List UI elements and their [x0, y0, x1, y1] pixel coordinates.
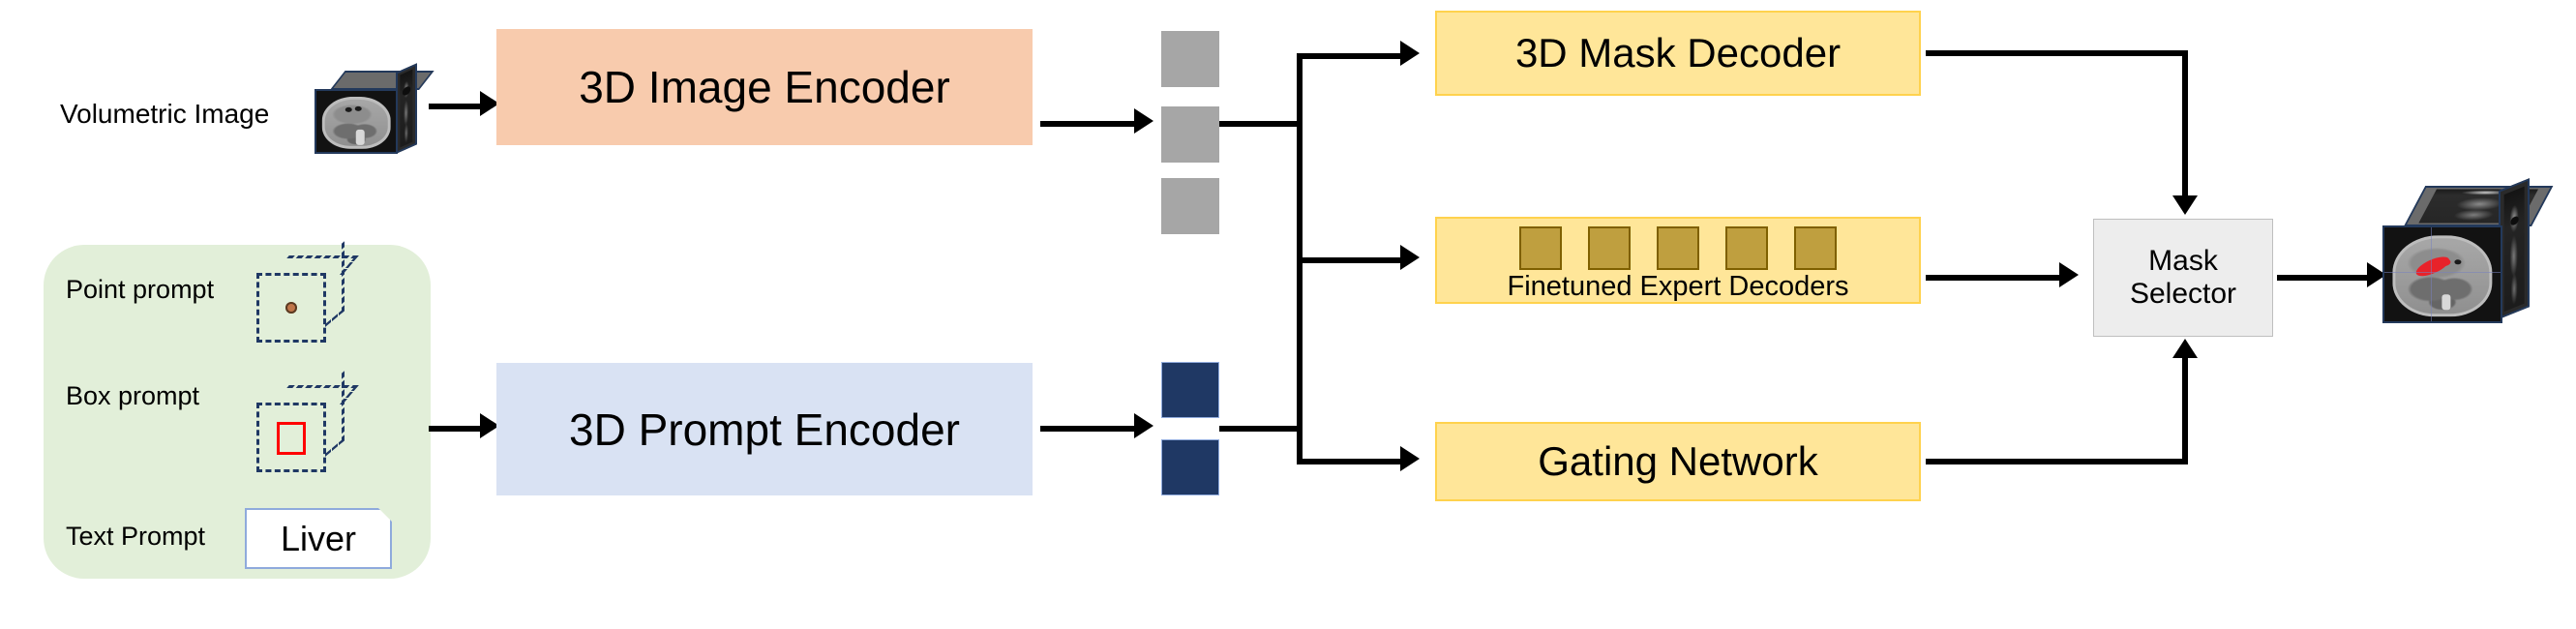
ct-marker-dot: [355, 106, 362, 111]
point-prompt-label: Point prompt: [66, 277, 214, 303]
expert-chip-row: [1437, 226, 1919, 270]
segmentation-mask-overlay: [2413, 254, 2452, 281]
bus-feed-image-tokens: [1219, 121, 1303, 127]
arrow-experts-to-selector-line: [1926, 275, 2061, 281]
image-token: [1161, 178, 1219, 234]
arrow-encoder-to-image-tokens-head: [1134, 108, 1153, 134]
expert-decoders-caption: Finetuned Expert Decoders: [1437, 271, 1919, 303]
output-cube-front-face: [2382, 225, 2502, 323]
block-3d-image-encoder-label: 3D Image Encoder: [579, 61, 950, 113]
block-mask-selector[interactable]: Mask Selector: [2093, 219, 2273, 337]
mask-selector-label-line1: Mask: [2148, 245, 2218, 279]
arrow-gating-to-selector-line-h: [1926, 459, 2188, 464]
output-cube-top-face: [2404, 186, 2553, 226]
branch-to-mask-decoder-head: [1400, 41, 1420, 66]
dashed-cube-side-face: [325, 241, 344, 327]
cube-front-face: [315, 89, 398, 154]
arrow-experts-to-selector-head: [2059, 262, 2079, 287]
ct-marker-dot: [2454, 260, 2461, 265]
box-prompt-label: Box prompt: [66, 383, 199, 409]
arrow-encoder-to-prompt-tokens-line: [1040, 426, 1137, 432]
branch-to-mask-decoder-line: [1297, 53, 1403, 59]
expert-decoder-chip: [1657, 226, 1699, 270]
arrow-gating-to-selector-line-v: [2182, 358, 2188, 463]
text-prompt-chip[interactable]: Liver: [245, 508, 392, 569]
block-3d-mask-decoder-label: 3D Mask Decoder: [1515, 30, 1841, 76]
cube-top-face: [330, 71, 434, 90]
arrow-encoder-to-prompt-tokens-head: [1134, 413, 1153, 438]
branch-to-gating-line: [1297, 459, 1403, 464]
box-prompt-cube-icon: [256, 385, 363, 482]
ct-marker-dot: [345, 106, 352, 111]
volumetric-image-cube-icon: [315, 71, 423, 154]
axial-ct-slice: [322, 97, 391, 149]
volumetric-image-label: Volumetric Image: [60, 101, 269, 128]
mask-selector-label-line2: Selector: [2130, 278, 2236, 312]
block-finetuned-expert-decoders[interactable]: Finetuned Expert Decoders: [1435, 217, 1921, 304]
prompt-token: [1161, 439, 1219, 495]
arrow-mask-decoder-to-selector-line-v: [2182, 50, 2188, 197]
expert-decoder-chip: [1588, 226, 1631, 270]
prompt-token: [1161, 362, 1219, 418]
crosshair-horizontal: [2384, 272, 2501, 273]
point-prompt-cube-icon: [256, 255, 363, 352]
arrow-encoder-to-image-tokens-line: [1040, 121, 1137, 127]
image-token: [1161, 106, 1219, 163]
block-gating-network-label: Gating Network: [1538, 438, 1817, 485]
bus-feed-prompt-tokens: [1219, 426, 1303, 432]
sagittal-slice: [400, 70, 412, 148]
expert-decoder-chip: [1794, 226, 1837, 270]
crosshair-vertical: [2431, 227, 2432, 321]
ct-spine: [2441, 294, 2450, 310]
arrow-mask-decoder-to-selector-head: [2172, 195, 2198, 215]
block-3d-mask-decoder[interactable]: 3D Mask Decoder: [1435, 11, 1921, 96]
image-token: [1161, 31, 1219, 87]
point-prompt-dot-icon: [285, 302, 297, 314]
block-gating-network[interactable]: Gating Network: [1435, 422, 1921, 501]
output-segmented-volume-cube-icon: [2382, 186, 2547, 346]
dashed-cube-side-face: [325, 371, 344, 457]
arrow-prompts-to-encoder-line: [429, 426, 483, 432]
output-cube-side-face: [2499, 178, 2530, 319]
arrow-selector-to-output-line: [2277, 275, 2370, 281]
axial-ct-slice-with-mask: [2392, 236, 2492, 316]
arrow-image-to-encoder-line: [429, 104, 483, 109]
segmentation-mask-overlay: [2435, 257, 2451, 266]
expert-decoder-chip: [1725, 226, 1768, 270]
branch-to-experts-line: [1297, 257, 1403, 263]
block-3d-prompt-encoder[interactable]: 3D Prompt Encoder: [496, 363, 1033, 495]
branch-to-gating-head: [1400, 446, 1420, 471]
arrow-gating-to-selector-head: [2172, 339, 2198, 358]
expert-decoder-chip: [1519, 226, 1562, 270]
text-prompt-value: Liver: [281, 519, 356, 559]
block-3d-image-encoder[interactable]: 3D Image Encoder: [496, 29, 1033, 145]
branch-to-experts-head: [1400, 245, 1420, 270]
box-prompt-red-rect-icon: [277, 422, 306, 455]
dashed-cube-top-face: [273, 255, 359, 275]
block-3d-prompt-encoder-label: 3D Prompt Encoder: [569, 404, 960, 456]
cube-side-face: [396, 63, 417, 154]
text-prompt-label: Text Prompt: [66, 524, 205, 550]
architecture-diagram-canvas: Volumetric Image 3D Image Encoder Point …: [0, 0, 2576, 629]
sagittal-slice: [2504, 186, 2525, 312]
ct-spine: [355, 130, 364, 145]
arrow-mask-decoder-to-selector-line-h: [1926, 50, 2188, 56]
dashed-cube-top-face: [273, 385, 359, 404]
